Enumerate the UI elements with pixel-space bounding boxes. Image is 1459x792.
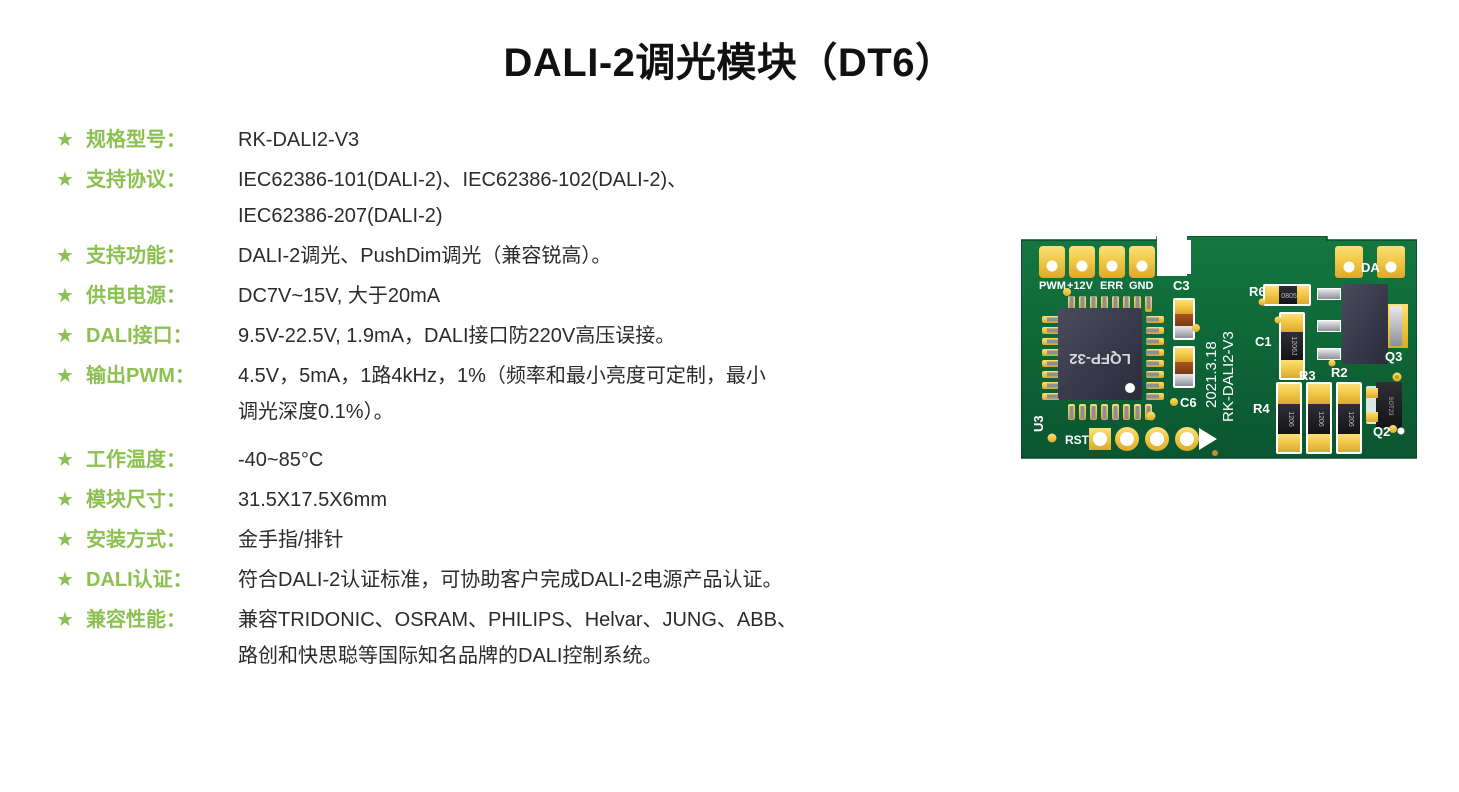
spec-row-power-supply: ★ 供电电源： DC7V~15V, 大于20mA [56, 278, 1016, 314]
spec-value: RK-DALI2-V3 [238, 122, 1016, 158]
spec-value-line: 路创和快思聪等国际知名品牌的DALI控制系统。 [238, 638, 1016, 674]
pcb-pads-middle [1317, 288, 1341, 360]
pcb-pad-12v [1069, 246, 1095, 278]
spec-value: IEC62386-101(DALI-2)、IEC62386-102(DALI-2… [238, 162, 1016, 234]
spec-value: 兼容TRIDONIC、OSRAM、PHILIPS、Helvar、JUNG、ABB… [238, 602, 1016, 674]
silk-label-12v: +12V [1067, 280, 1094, 292]
silk-label-da: DA [1361, 260, 1380, 275]
spec-label: 兼容性能： [86, 602, 238, 638]
pcb-testpoint-2 [1145, 427, 1169, 451]
pcb-testpoint-rst [1089, 428, 1111, 450]
spec-row-operating-temperature: ★ 工作温度： -40~85°C [56, 442, 1016, 478]
pcb-via [1063, 288, 1071, 296]
spec-value: -40~85°C [238, 442, 1016, 478]
spec-label: DALI接口： [86, 318, 238, 354]
spec-value: 4.5V，5mA，1路4kHz，1%（频率和最小亮度可定制，最小 调光深度0.1… [238, 358, 1016, 430]
silk-label-err: ERR [1100, 280, 1123, 292]
pcb-component-r4: 1206 [1276, 382, 1302, 454]
pcb-component-r6: 0805 [1263, 284, 1311, 306]
spec-label: 支持协议： [86, 162, 238, 198]
pcb-testpoint-1 [1115, 427, 1139, 451]
pcb-pad-gnd [1129, 246, 1155, 278]
silk-label-c1: C1 [1255, 334, 1272, 349]
spec-label: 安装方式： [86, 522, 238, 558]
silk-label-pwm: PWM [1039, 280, 1066, 292]
silk-label-c6: C6 [1180, 395, 1197, 410]
spec-row-protocol: ★ 支持协议： IEC62386-101(DALI-2)、IEC62386-10… [56, 162, 1016, 234]
spec-label: DALI认证： [86, 562, 238, 598]
star-icon: ★ [56, 162, 86, 198]
silk-label-q3: Q3 [1385, 349, 1402, 364]
silk-res-code-1206: 1206 [1287, 411, 1294, 427]
pcb-testpoint-3 [1175, 427, 1199, 451]
spec-value: 9.5V-22.5V, 1.9mA，DALI接口防220V高压误接。 [238, 318, 1016, 354]
silk-label-q2: Q2 [1373, 424, 1390, 439]
pcb-pad-da-2 [1377, 246, 1405, 278]
spec-row-pwm-output: ★ 输出PWM： 4.5V，5mA，1路4kHz，1%（频率和最小亮度可定制，最… [56, 358, 1016, 430]
silk-label-r3: R3 [1299, 368, 1316, 383]
page-title: DALI-2调光模块（DT6） [0, 30, 1459, 88]
specification-list: ★ 规格型号： RK-DALI2-V3 ★ 支持协议： IEC62386-101… [56, 122, 1016, 678]
star-icon: ★ [56, 358, 86, 394]
spec-label: 供电电源： [86, 278, 238, 314]
spec-value: 金手指/排针 [238, 522, 1016, 558]
spec-value-line: 符合DALI-2认证标准，可协助客户完成DALI-2电源产品认证。 [238, 562, 1016, 598]
pcb-component-r2: 1206 [1336, 382, 1362, 454]
spec-row-functions: ★ 支持功能： DALI-2调光、PushDim调光（兼容锐高）。 [56, 238, 1016, 274]
pcb-pad-err [1099, 246, 1125, 278]
star-icon: ★ [56, 562, 86, 598]
pcb-pad-pwm [1039, 246, 1065, 278]
spec-row-mounting: ★ 安装方式： 金手指/排针 [56, 522, 1016, 558]
spec-value: DC7V~15V, 大于20mA [238, 278, 1016, 314]
spec-value-line: 31.5X17.5X6mm [238, 482, 1016, 518]
spec-row-module-size: ★ 模块尺寸： 31.5X17.5X6mm [56, 482, 1016, 518]
spec-value: 符合DALI-2认证标准，可协助客户完成DALI-2电源产品认证。 [238, 562, 1016, 598]
spec-row-model: ★ 规格型号： RK-DALI2-V3 [56, 122, 1016, 158]
spec-label: 工作温度： [86, 442, 238, 478]
silk-q2-code: SOT23 [1387, 396, 1393, 416]
pcb-board-image: PWM +12V ERR GND DA [1021, 236, 1417, 462]
spec-value-line: 金手指/排针 [238, 522, 1016, 558]
star-icon: ★ [56, 522, 86, 558]
chip-pin1-dot [1125, 383, 1135, 393]
spec-row-dali-certification: ★ DALI认证： 符合DALI-2认证标准，可协助客户完成DALI-2电源产品… [56, 562, 1016, 598]
spec-label: 模块尺寸： [86, 482, 238, 518]
silk-res-code-1206: 1206 [1317, 411, 1324, 427]
star-icon: ★ [56, 482, 86, 518]
silk-res-code-1206: 1206 [1347, 411, 1354, 427]
spec-value-line: DALI-2调光、PushDim调光（兼容锐高）。 [238, 238, 1016, 274]
product-spec-page: DALI-2调光模块（DT6） ★ 规格型号： RK-DALI2-V3 ★ 支持… [0, 0, 1459, 792]
spec-value-line: 4.5V，5mA，1路4kHz，1%（频率和最小亮度可定制，最小 [238, 358, 1016, 394]
silk-label-gnd: GND [1129, 280, 1154, 292]
spec-label: 规格型号： [86, 122, 238, 158]
spec-row-dali-interface: ★ DALI接口： 9.5V-22.5V, 1.9mA，DALI接口防220V高… [56, 318, 1016, 354]
silk-label-u3: U3 [1031, 415, 1046, 432]
pcb-pad-da-1 [1335, 246, 1363, 278]
star-icon: ★ [56, 122, 86, 158]
pcb-component-c6 [1173, 346, 1195, 388]
silk-label-r4: R4 [1253, 401, 1270, 416]
silk-label-c3: C3 [1173, 278, 1190, 293]
star-icon: ★ [56, 278, 86, 314]
spec-value-line: -40~85°C [238, 442, 1016, 478]
spec-label: 输出PWM： [86, 358, 238, 394]
silk-label-board-name: RK-DALI2-V3 [1220, 331, 1237, 422]
spec-value-line: IEC62386-101(DALI-2)、IEC62386-102(DALI-2… [238, 162, 1016, 198]
silk-cap-code: 1206J [1290, 336, 1297, 355]
spec-value: DALI-2调光、PushDim调光（兼容锐高）。 [238, 238, 1016, 274]
silk-res-code-0805: 0805 [1281, 293, 1297, 300]
spec-value-line: 9.5V-22.5V, 1.9mA，DALI接口防220V高压误接。 [238, 318, 1016, 354]
spec-row-compatibility: ★ 兼容性能： 兼容TRIDONIC、OSRAM、PHILIPS、Helvar、… [56, 602, 1016, 674]
spec-value-line: 兼容TRIDONIC、OSRAM、PHILIPS、Helvar、JUNG、ABB… [238, 602, 1016, 638]
spec-value: 31.5X17.5X6mm [238, 482, 1016, 518]
silk-label-board-date: 2021.3.18 [1203, 341, 1220, 408]
spec-value-line: 调光深度0.1%）。 [238, 394, 1016, 430]
star-icon: ★ [56, 602, 86, 638]
star-icon: ★ [56, 238, 86, 274]
spec-value-line: RK-DALI2-V3 [238, 122, 1016, 158]
spec-value-line: IEC62386-207(DALI-2) [238, 198, 1016, 234]
spec-value-line: DC7V~15V, 大于20mA [238, 278, 1016, 314]
silk-label-r2: R2 [1331, 365, 1348, 380]
star-icon: ★ [56, 318, 86, 354]
spec-label: 支持功能： [86, 238, 238, 274]
pcb-component-c3 [1173, 298, 1195, 340]
silk-label-rst: RST [1065, 433, 1090, 447]
pcb-component-q2: SOT23 [1366, 382, 1402, 428]
pcb-component-r3: 1206 [1306, 382, 1332, 454]
silk-label-chip: LQFP-32 [1069, 350, 1131, 367]
star-icon: ★ [56, 442, 86, 478]
